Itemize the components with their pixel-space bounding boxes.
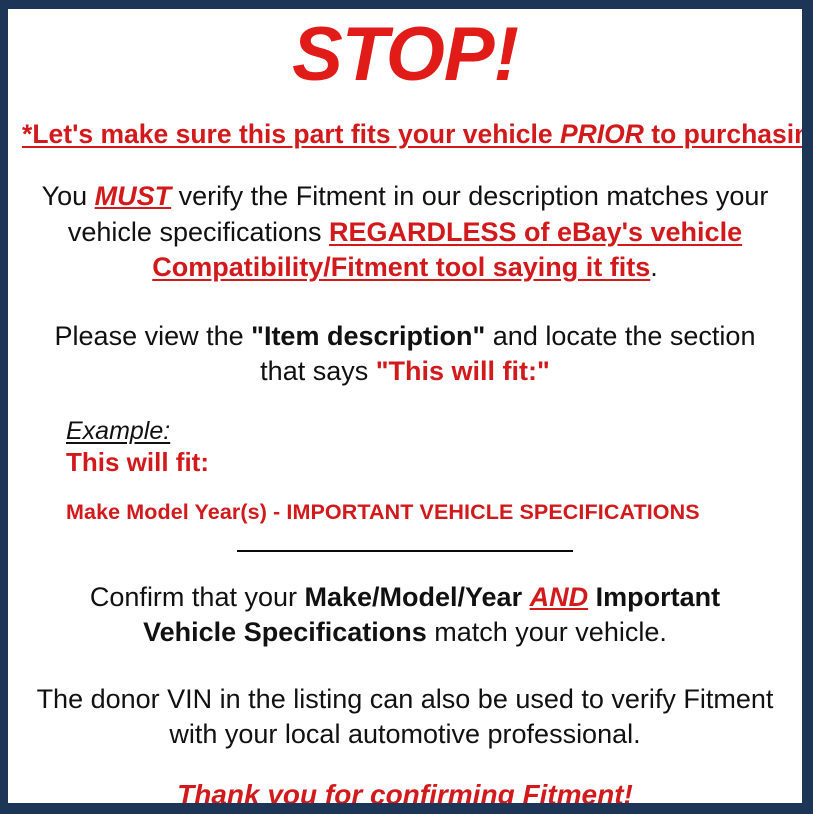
example-block: Example: This will fit: Make Model Year(… [22,417,788,526]
page-title: STOP! [22,17,788,93]
confirm-part-2: match your vehicle. [427,617,667,647]
must-part-1: You [42,181,95,211]
must-part-3: . [650,252,658,282]
horizontal-divider [237,550,573,552]
vin-paragraph: The donor VIN in the listing can also be… [22,682,788,752]
this-will-fit-emphasis: "This will fit:" [376,356,550,386]
item-description-emphasis: "Item description" [251,321,485,351]
example-spec-line: Make Model Year(s) - IMPORTANT VEHICLE S… [66,500,788,526]
tagline-lead: *Let's make sure this part fits your veh… [22,119,560,149]
must-verify-paragraph: You MUST verify the Fitment in our descr… [22,179,788,284]
tagline-tail: to purchasing* [644,119,802,149]
tagline: *Let's make sure this part fits your veh… [22,119,788,149]
notice-card: STOP! *Let's make sure this part fits yo… [8,9,802,803]
notice-outer-border: STOP! *Let's make sure this part fits yo… [0,0,813,814]
and-emphasis: AND [530,582,589,612]
example-label: Example: [66,417,788,445]
must-emphasis: MUST [95,181,172,211]
confirm-part-1: Confirm that your [90,582,305,612]
item-description-paragraph: Please view the "Item description" and l… [22,319,788,389]
confirm-paragraph: Confirm that your Make/Model/Year AND Im… [22,580,788,650]
make-model-year-emphasis: Make/Model/Year [304,582,529,612]
closing-thank-you: Thank you for confirming Fitment! [22,778,788,803]
tagline-emphasis-prior: PRIOR [560,119,644,149]
desc-part-1: Please view the [55,321,252,351]
divider-wrap [22,550,788,552]
example-fit-header: This will fit: [66,447,788,478]
